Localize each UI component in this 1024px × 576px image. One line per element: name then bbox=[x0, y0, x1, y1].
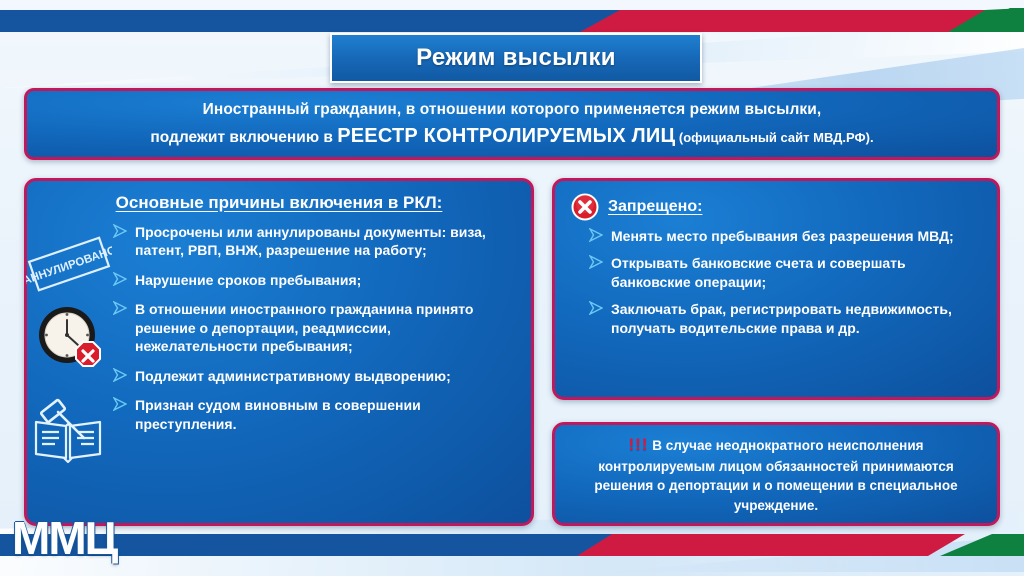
banner-line-2-prefix: подлежит включению в bbox=[150, 129, 337, 146]
banner-line-1: Иностранный гражданин, в отношении котор… bbox=[203, 101, 822, 119]
warning-note-text: В случае неоднократного неисполнения кон… bbox=[594, 438, 957, 512]
slide-canvas: Режим высылки Иностранный гражданин, в о… bbox=[0, 0, 1024, 576]
list-item: Заключать брак, регистрировать недвижимо… bbox=[589, 300, 981, 337]
list-item: Открывать банковские счета и совершать б… bbox=[589, 254, 981, 291]
arrow-bullet-icon bbox=[589, 228, 603, 242]
list-item-label: Просрочены или аннулированы документы: в… bbox=[135, 224, 486, 258]
bottom-tricolor-ribbon bbox=[0, 534, 1024, 558]
list-item: Нарушение сроков пребывания; bbox=[113, 271, 517, 289]
top-tricolor-ribbon bbox=[0, 8, 1024, 34]
warning-note-text-row: !!! В случае неоднократного неисполнения… bbox=[555, 433, 997, 515]
arrow-bullet-icon bbox=[589, 255, 603, 269]
list-item-label: Нарушение сроков пребывания; bbox=[135, 272, 361, 288]
top-ribbon-svg bbox=[0, 8, 1024, 34]
law-book-gavel-icon bbox=[28, 396, 108, 466]
list-item-label: В отношении иностранного гражданина прин… bbox=[135, 301, 473, 354]
banner-registry-name: РЕЕСТР КОНТРОЛИРУЕМЫХ ЛИЦ bbox=[337, 125, 675, 147]
list-item-label: Подлежит административному выдворению; bbox=[135, 368, 451, 384]
bottom-ribbon-svg bbox=[0, 534, 1024, 558]
prohibited-list: Менять место пребывания без разрешения М… bbox=[555, 223, 997, 337]
list-item: В отношении иностранного гражданина прин… bbox=[113, 300, 517, 355]
arrow-bullet-icon bbox=[589, 301, 603, 315]
annulled-stamp-icon: АННУЛИРОВАНО bbox=[26, 232, 112, 296]
list-item: Признан судом виновным в совершении прес… bbox=[113, 396, 517, 433]
ribbon-blue-segment bbox=[0, 10, 640, 32]
mmc-logo: ММЦ bbox=[12, 508, 140, 570]
list-item: Просрочены или аннулированы документы: в… bbox=[113, 223, 517, 260]
arrow-bullet-icon bbox=[113, 301, 127, 315]
ribbon-red-segment bbox=[580, 10, 1000, 32]
forbidden-circle-x-icon bbox=[571, 193, 599, 221]
bottom-ribbon-red-segment bbox=[577, 534, 965, 556]
reasons-heading: Основные причины включения в РКЛ: bbox=[27, 193, 531, 213]
prohibited-heading: Запрещено: bbox=[608, 198, 702, 216]
prohibited-heading-row: Запрещено: bbox=[555, 181, 997, 223]
list-item-label: Заключать брак, регистрировать недвижимо… bbox=[611, 301, 952, 335]
arrow-bullet-icon bbox=[113, 397, 127, 411]
list-item-label: Признан судом виновным в совершении прес… bbox=[135, 397, 421, 431]
arrow-bullet-icon bbox=[113, 224, 127, 238]
exclamation-marks-icon: !!! bbox=[628, 435, 648, 454]
list-item: Подлежит административному выдворению; bbox=[113, 367, 517, 385]
list-item-label: Менять место пребывания без разрешения М… bbox=[611, 228, 954, 244]
clock-blocked-icon bbox=[34, 302, 108, 376]
arrow-bullet-icon bbox=[113, 368, 127, 382]
page-title: Режим высылки bbox=[416, 44, 616, 72]
prohibited-panel: Запрещено: Менять место пребывания без р… bbox=[552, 178, 1000, 400]
slide-title-plate: Режим высылки bbox=[330, 33, 702, 83]
list-item-label: Открывать банковские счета и совершать б… bbox=[611, 255, 906, 289]
banner-line-2: подлежит включению в РЕЕСТР КОНТРОЛИРУЕМ… bbox=[150, 125, 873, 148]
warning-note-panel: !!! В случае неоднократного неисполнения… bbox=[552, 422, 1000, 526]
logo-text: ММЦ bbox=[12, 508, 140, 568]
arrow-bullet-icon bbox=[113, 272, 127, 286]
banner-site-note: (официальный сайт МВД.РФ). bbox=[675, 130, 873, 145]
list-item: Менять место пребывания без разрешения М… bbox=[589, 227, 981, 245]
registry-banner: Иностранный гражданин, в отношении котор… bbox=[24, 88, 1000, 160]
